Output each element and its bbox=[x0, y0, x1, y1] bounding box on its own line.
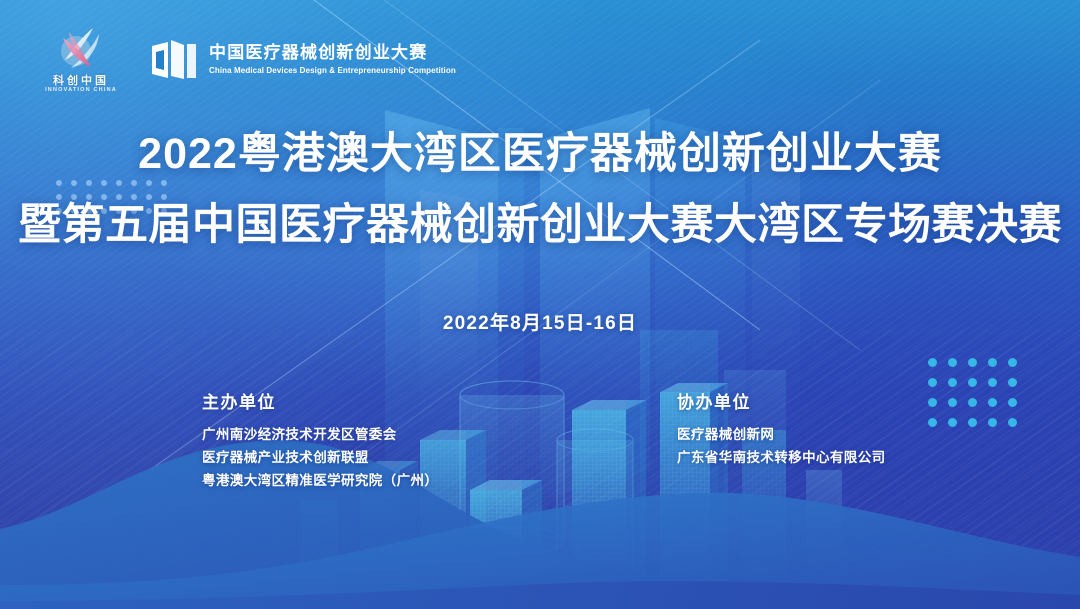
header-logo-bar: 科创中国 INNOVATION CHINA 中国医疗器械创新创业大赛 China… bbox=[38, 26, 456, 93]
competition-logo[interactable]: 中国医疗器械创新创业大赛 China Medical Devices Desig… bbox=[150, 38, 456, 82]
host-heading: 主办单位 bbox=[202, 388, 532, 413]
innovation-china-en-text: INNOVATION CHINA bbox=[45, 87, 117, 93]
competition-cn-name: 中国医疗器械创新创业大赛 bbox=[209, 43, 456, 63]
open-door-icon bbox=[150, 38, 198, 82]
coorganizer-column: 协办单位 医疗器械创新网 广东省华南技术转移中心有限公司 bbox=[677, 388, 1007, 493]
main-title-block: 2022粤港澳大湾区医疗器械创新创业大赛 暨第五届中国医疗器械创新创业大赛大湾区… bbox=[0, 128, 1080, 253]
title-line-2: 暨第五届中国医疗器械创新创业大赛大湾区专场赛决赛 bbox=[0, 199, 1080, 252]
competition-logo-text: 中国医疗器械创新创业大赛 China Medical Devices Desig… bbox=[209, 43, 456, 76]
coorganizer-heading: 协办单位 bbox=[677, 388, 1007, 413]
coorganizer-line-1: 医疗器械创新网 bbox=[677, 423, 1007, 446]
event-date: 2022年8月15日-16日 bbox=[0, 308, 1080, 335]
innovation-china-bird-icon bbox=[49, 26, 113, 74]
host-line-3: 粤港澳大湾区精准医学研究院（广州） bbox=[202, 469, 532, 492]
title-line-1: 2022粤港澳大湾区医疗器械创新创业大赛 bbox=[0, 128, 1080, 181]
coorganizer-line-2: 广东省华南技术转移中心有限公司 bbox=[677, 446, 1007, 469]
competition-en-name: China Medical Devices Design & Entrepren… bbox=[209, 66, 456, 76]
host-line-1: 广州南沙经济技术开发区管委会 bbox=[202, 423, 532, 446]
host-line-2: 医疗器械产业技术创新联盟 bbox=[202, 446, 532, 469]
host-organizer-column: 主办单位 广州南沙经济技术开发区管委会 医疗器械产业技术创新联盟 粤港澳大湾区精… bbox=[202, 388, 532, 493]
innovation-china-cn-text: 科创中国 bbox=[53, 75, 109, 87]
poster-canvas: 科创中国 INNOVATION CHINA 中国医疗器械创新创业大赛 China… bbox=[0, 0, 1080, 609]
innovation-china-logo[interactable]: 科创中国 INNOVATION CHINA bbox=[38, 26, 124, 93]
organizers-block: 主办单位 广州南沙经济技术开发区管委会 医疗器械产业技术创新联盟 粤港澳大湾区精… bbox=[0, 388, 1080, 493]
